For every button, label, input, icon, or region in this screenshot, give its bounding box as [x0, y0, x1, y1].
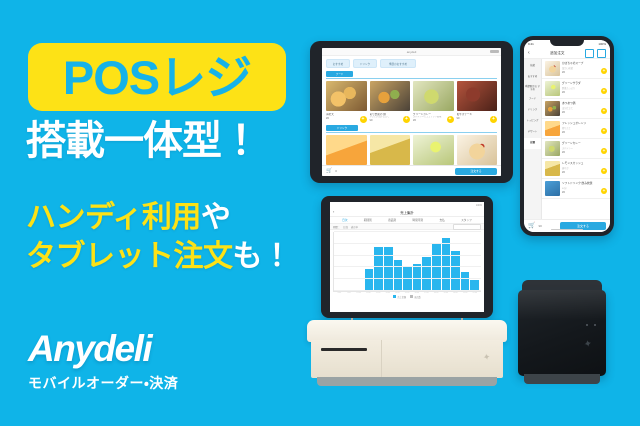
- tablet-device: anydeli おすすめ ドリンク 季節のおすすめ フード 海老天: [310, 41, 513, 183]
- page-title: 搭載一体型！: [26, 120, 326, 162]
- subheadline-block: ハンディ利用や タブレット注文も！: [26, 198, 326, 276]
- category-header-food-label: フード: [336, 72, 344, 76]
- cash-drawer: ✦: [307, 320, 507, 388]
- chart-bar: [374, 247, 383, 291]
- phone-item-list: かぼちゃのスープ 温かい前菜 ¥0 + グリーンサラダ 野菜たっぷり: [542, 59, 610, 219]
- tab-product[interactable]: 商品別: [388, 218, 396, 222]
- list-item-image: [545, 61, 560, 76]
- menu-item-image: [413, 81, 454, 111]
- list-item-name: グリーンカレー: [562, 141, 607, 145]
- grid-view-icon[interactable]: [585, 49, 594, 58]
- status-battery: 100%: [598, 42, 606, 46]
- chart-x-tick: 17:00: [422, 292, 431, 294]
- list-item-image: [545, 161, 560, 176]
- chart-gridline: [334, 231, 481, 232]
- sidebar-item-3[interactable]: フード: [524, 94, 541, 105]
- add-to-cart-icon[interactable]: +: [601, 108, 607, 114]
- chevron-left-icon[interactable]: ‹: [528, 51, 530, 56]
- chart-x-tick: 21:00: [461, 292, 470, 294]
- chart-x-tick: 16:00: [412, 292, 421, 294]
- menu-item-image: [370, 135, 411, 165]
- chart-bars: [336, 232, 479, 291]
- chart-x-tick: 8:00: [335, 292, 344, 294]
- phone-header-title: 追加注文: [550, 51, 564, 56]
- legend-label-sales: 売上金額: [397, 297, 406, 299]
- smartphone-device: 9:41 100% ‹ 追加注文 前菜 おすすめ 季節限定の すすめ フード: [520, 36, 614, 236]
- category-header-drink: ドリンク: [326, 125, 358, 131]
- list-item-image: [545, 121, 560, 136]
- chart-x-tick: 15:00: [403, 292, 412, 294]
- chart-bar: [365, 269, 374, 291]
- pos-badge-label: POSレジ: [63, 54, 251, 101]
- chart-bar: [394, 260, 403, 291]
- chart-bar: [451, 251, 460, 291]
- subheadline-2-highlight: タブレット注文: [26, 240, 233, 273]
- tab-seasonal[interactable]: 季節のおすすめ: [380, 59, 416, 68]
- cash-drawer-top: [307, 320, 507, 342]
- list-item-name: フレッシュオレンジ: [562, 121, 607, 125]
- chart-x-axis-labels: 8:009:0010:0011:0012:0013:0014:0015:0016…: [333, 292, 481, 294]
- cart-total: ¥0: [538, 224, 541, 228]
- menu-item-image: [457, 81, 498, 111]
- receipt-printer-slot-icon: [321, 348, 367, 351]
- list-item-name: グリーンサラダ: [562, 81, 607, 85]
- card-reader-gloss: [518, 290, 606, 320]
- add-to-cart-icon[interactable]: +: [601, 188, 607, 194]
- phone-bezel: 9:41 100% ‹ 追加注文 前菜 おすすめ 季節限定の すすめ フード: [520, 36, 614, 236]
- chart-gridline: [334, 278, 481, 279]
- add-to-cart-icon[interactable]: +: [360, 116, 367, 123]
- list-item-name: レモンスカッシュ: [562, 161, 607, 165]
- chart-x-tick: 14:00: [393, 292, 402, 294]
- menu-item-image: [326, 135, 367, 165]
- card-reader-base: [524, 374, 600, 384]
- legend-item-visits: 来店数: [410, 295, 421, 299]
- menu-card[interactable]: 和牛ステーキ ¥0 +: [457, 81, 498, 122]
- add-to-cart-icon[interactable]: +: [601, 88, 607, 94]
- chevron-left-icon[interactable]: ‹: [333, 210, 334, 214]
- filter-value-daily[interactable]: 日次: [343, 225, 348, 229]
- chart-gridline: [334, 255, 481, 256]
- add-to-cart-icon[interactable]: +: [601, 168, 607, 174]
- list-item[interactable]: レモンスカッシュ 爽やか ¥0 +: [542, 159, 610, 179]
- status-time: 9:41: [528, 42, 534, 46]
- add-to-cart-icon[interactable]: +: [490, 116, 497, 123]
- order-button-label: 注文する: [577, 224, 589, 228]
- food-grid-row-1: 海老天 ¥0 + 彩り野菜の 鍋 やさしい出汁仕立て ¥0 + グ: [322, 81, 501, 122]
- tablet-status-bar: anydeli: [322, 48, 501, 56]
- list-item[interactable]: グリーンサラダ 野菜たっぷり ¥0 +: [542, 79, 610, 99]
- filter-status: 表示中: [351, 225, 358, 229]
- home-indicator: [551, 229, 583, 231]
- category-header-drink-label: ドリンク: [337, 126, 347, 130]
- chart-gridline: [334, 290, 481, 291]
- chart-bar: [442, 238, 451, 291]
- subheadline-1-highlight: ハンディ利用: [26, 201, 201, 234]
- tab-payment[interactable]: 支払: [439, 218, 444, 222]
- card-reader-indicators: [586, 324, 596, 326]
- logo-wordmark: Anydeli: [28, 330, 178, 367]
- menu-item-name: 和牛ステーキ: [457, 113, 498, 116]
- sidebar-item-1[interactable]: おすすめ: [524, 72, 541, 83]
- menu-card[interactable]: 彩り野菜の 鍋 やさしい出汁仕立て ¥0 +: [370, 81, 411, 122]
- sidebar-item-2[interactable]: 季節限定の すすめ: [524, 83, 541, 94]
- sidebar-item-0[interactable]: 前菜: [524, 61, 541, 72]
- promo-banner: POSレジ 搭載一体型！ ハンディ利用や タブレット注文も！ Anydeli モ…: [0, 0, 640, 426]
- battery-icon: [490, 50, 499, 53]
- category-divider: [326, 78, 497, 79]
- menu-card[interactable]: グリーンカレー スパイシーでココナッツ風味 ¥0 +: [413, 81, 454, 122]
- legend-item-sales: 売上金額: [393, 295, 406, 299]
- phone-screen: 9:41 100% ‹ 追加注文 前菜 おすすめ 季節限定の すすめ フード: [524, 40, 610, 232]
- bag-icon[interactable]: [597, 49, 606, 58]
- chart-bar: [461, 272, 470, 291]
- chart-x-tick: 12:00: [374, 292, 383, 294]
- legend-label-visits: 来店数: [414, 297, 421, 299]
- pos-nav-tabs: 日次 期間別 商品別 時間帯別 支払 スタッフ: [330, 217, 484, 224]
- cart-count: 0: [335, 169, 337, 173]
- chart-x-tick: 10:00: [354, 292, 363, 294]
- list-item[interactable]: かぼちゃのスープ 温かい前菜 ¥0 +: [542, 59, 610, 79]
- tab-osusume-label: おすすめ: [333, 62, 343, 66]
- cash-drawer-left-panel[interactable]: [311, 340, 382, 378]
- card-reader-device: ✦: [518, 280, 606, 392]
- cash-drawer-base: [317, 377, 497, 386]
- phone-footer-bar: 🛒 ¥0 注文する: [524, 219, 610, 232]
- chart-x-tick: 20:00: [451, 292, 460, 294]
- menu-item-name: 海老天: [326, 113, 367, 116]
- subheadline-line-2: タブレット注文も！: [26, 237, 326, 276]
- category-divider: [326, 132, 497, 133]
- list-item-name: かぼちゃのスープ: [562, 61, 607, 65]
- menu-item-image: [413, 135, 454, 165]
- menu-item-image: [457, 135, 498, 165]
- phone-notch: [550, 40, 584, 46]
- list-item-image: [545, 101, 560, 116]
- chart-plot-area: 0246810: [333, 232, 481, 292]
- tab-period[interactable]: 期間別: [364, 218, 372, 222]
- order-button-label: 注文する: [470, 169, 481, 173]
- list-item[interactable]: ソフトドリンク 飲み放題 60分 ¥0 +: [542, 179, 610, 199]
- chart-gridline: [334, 266, 481, 267]
- pos-header: ‹ 売上集計: [330, 208, 484, 217]
- sidebar-item-4[interactable]: ドリンク: [524, 105, 541, 116]
- card-reader-face[interactable]: ✦: [518, 290, 606, 376]
- menu-card[interactable]: 海老天 ¥0 +: [326, 81, 367, 122]
- cart-icon[interactable]: 🛒: [528, 223, 535, 229]
- chart-x-tick: 13:00: [383, 292, 392, 294]
- list-item-image: [545, 81, 560, 96]
- logo-tagline: モバイルオーダー・決済: [28, 376, 178, 390]
- sidebar-item-5[interactable]: トッピング: [524, 116, 541, 127]
- add-to-cart-icon[interactable]: +: [601, 68, 607, 74]
- tab-drink-label: ドリンク: [360, 62, 370, 66]
- tablet-app-title: anydeli: [407, 50, 417, 54]
- subheadline-line-1: ハンディ利用や: [26, 198, 326, 237]
- list-item[interactable]: あつあつ鍋 出汁仕立て ¥0 +: [542, 99, 610, 119]
- list-item[interactable]: グリーンカレー スパイシー ¥0 +: [542, 139, 610, 159]
- phone-category-sidebar: 前菜 おすすめ 季節限定の すすめ フード ドリンク トッピング デザート お酒: [524, 59, 542, 219]
- tab-seasonal-label: 季節のおすすめ: [389, 62, 407, 66]
- chart-x-tick: 9:00: [345, 292, 354, 294]
- tab-hourly[interactable]: 時間帯別: [412, 218, 423, 222]
- list-item[interactable]: フレッシュオレンジ 搾りたて ¥0 +: [542, 119, 610, 139]
- filter-label-period: 期間：: [333, 225, 340, 229]
- status-battery: 100%: [476, 204, 482, 207]
- add-to-cart-icon[interactable]: +: [601, 148, 607, 154]
- list-item-name: あつあつ鍋: [562, 101, 607, 105]
- tablet-footer-bar: 🛒 0 注文する: [322, 165, 501, 176]
- add-to-cart-icon[interactable]: +: [601, 128, 607, 134]
- brand-logo: Anydeli モバイルオーダー・決済: [28, 330, 178, 390]
- sidebar-item-6[interactable]: デザート: [524, 127, 541, 138]
- tablet-bezel: anydeli おすすめ ドリンク 季節のおすすめ フード 海老天: [310, 41, 513, 183]
- phone-body: 前菜 おすすめ 季節限定の すすめ フード ドリンク トッピング デザート お酒: [524, 59, 610, 219]
- chart-bar: [432, 244, 441, 291]
- list-item-name: ソフトドリンク 飲み放題: [562, 181, 607, 185]
- chart-bar: [422, 257, 431, 291]
- pos-terminal: 100% ‹ 売上集計 日次 期間別 商品別 時間帯別 支払 スタッフ 期間： …: [307, 196, 507, 396]
- menu-item-image: [370, 81, 411, 111]
- chart-x-tick: 18:00: [432, 292, 441, 294]
- chart-x-tick: 11:00: [364, 292, 373, 294]
- pos-badge: POSレジ: [28, 43, 286, 111]
- tablet-category-tabs: おすすめ ドリンク 季節のおすすめ: [322, 56, 501, 70]
- subheadline-1-tail: や: [201, 201, 231, 234]
- star-logo-icon: ✦: [483, 352, 492, 362]
- subheadline-2-tail: も！: [233, 240, 292, 273]
- cart-icon[interactable]: 🛒: [326, 169, 332, 174]
- menu-item-image: [326, 81, 367, 111]
- chart-legend: 売上金額 来店数: [333, 295, 481, 299]
- star-logo-icon: ✦: [583, 339, 593, 351]
- sidebar-item-7[interactable]: お酒: [524, 138, 541, 149]
- list-item-image: [545, 141, 560, 156]
- pos-page-title: 売上集計: [400, 210, 414, 215]
- chart-bar: [384, 247, 393, 291]
- category-header-food: フード: [326, 71, 353, 77]
- chart-x-tick: 22:00: [470, 292, 479, 294]
- search-input[interactable]: [453, 224, 481, 230]
- order-button[interactable]: 注文する: [455, 168, 497, 175]
- tab-drink[interactable]: ドリンク: [353, 59, 377, 68]
- tab-osusume[interactable]: おすすめ: [326, 59, 350, 68]
- phone-header: ‹ 追加注文: [524, 48, 610, 59]
- sales-chart: 0246810 8:009:0010:0011:0012:0013:0014:0…: [330, 230, 484, 302]
- list-item-image: [545, 181, 560, 196]
- chart-gridline: [334, 243, 481, 244]
- tab-daily[interactable]: 日次: [342, 218, 347, 222]
- tab-staff[interactable]: スタッフ: [461, 218, 472, 222]
- cash-drawer-right-panel[interactable]: ✦: [382, 340, 503, 378]
- chart-x-tick: 19:00: [441, 292, 450, 294]
- cash-drawer-body: ✦: [311, 340, 503, 378]
- tablet-screen: anydeli おすすめ ドリンク 季節のおすすめ フード 海老天: [322, 48, 501, 176]
- pos-screen: 100% ‹ 売上集計 日次 期間別 商品別 時間帯別 支払 スタッフ 期間： …: [330, 202, 484, 312]
- pos-tablet-bezel: 100% ‹ 売上集計 日次 期間別 商品別 時間帯別 支払 スタッフ 期間： …: [321, 196, 493, 318]
